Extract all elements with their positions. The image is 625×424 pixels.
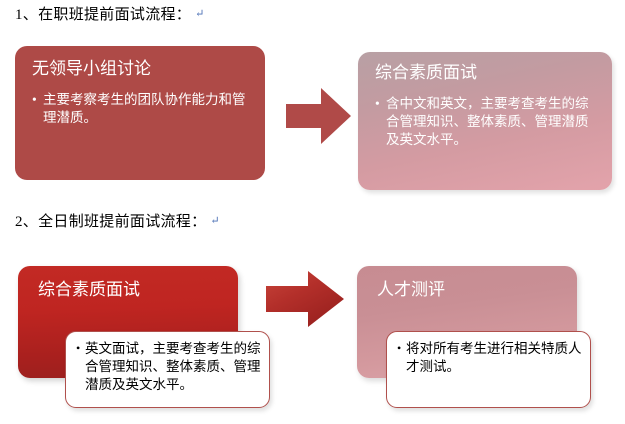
flow1-box2-title: 综合素质面试 [375, 64, 477, 83]
flow2-box3-callout-text: 英文面试，主要考查考生的综合管理知识、整体素质、管理潜质及英文水平。 [85, 340, 261, 395]
flow2-box4-title: 人才测评 [377, 281, 445, 300]
section-heading-1: 1、在职班提前面试流程：↵ [15, 8, 205, 23]
section-heading-1-text: 1、在职班提前面试流程： [15, 7, 191, 23]
section-heading-2: 2、全日制班提前面试流程：↵ [15, 215, 220, 230]
flow2-box3-callout-bullet: • 英文面试，主要考查考生的综合管理知识、整体素质、管理潜质及英文水平。 [76, 340, 261, 395]
flow1-box-leaderless-group-discussion[interactable]: 无领导小组讨论 • 主要考察考生的团队协作能力和管理潜质。 [15, 46, 265, 180]
bullet-dot-icon: • [32, 91, 37, 109]
paragraph-mark-icon: ↵ [195, 8, 205, 20]
flow1-box2-bullet-text: 含中文和英文，主要考查考生的综合管理知识、整体素质、管理潜质及英文水平。 [386, 95, 597, 148]
paragraph-mark-icon: ↵ [210, 215, 220, 227]
bullet-dot-icon: • [76, 340, 80, 356]
flow1-box1-bullet: • 主要考察考生的团队协作能力和管理潜质。 [32, 91, 250, 127]
flow2-box4-callout-bullet: • 将对所有考生进行相关特质人才测试。 [397, 340, 582, 376]
flow2-right-arrow-icon [266, 271, 346, 329]
flow1-right-arrow-icon [286, 88, 351, 144]
flow2-box4-callout[interactable]: • 将对所有考生进行相关特质人才测试。 [386, 331, 591, 408]
section-heading-2-text: 2、全日制班提前面试流程： [15, 214, 206, 230]
flow2-box4-callout-text: 将对所有考生进行相关特质人才测试。 [406, 340, 582, 376]
flow1-box1-title: 无领导小组讨论 [32, 60, 151, 79]
flow2-arrow-svg [266, 271, 346, 329]
flow2-box3-title: 综合素质面试 [38, 281, 140, 300]
flow1-arrow-svg [286, 88, 351, 144]
bullet-dot-icon: • [397, 340, 401, 356]
flow1-box-comprehensive-quality-interview[interactable]: 综合素质面试 • 含中文和英文，主要考查考生的综合管理知识、整体素质、管理潜质及… [358, 52, 612, 190]
bullet-dot-icon: • [375, 95, 380, 113]
flow2-box3-callout[interactable]: • 英文面试，主要考查考生的综合管理知识、整体素质、管理潜质及英文水平。 [65, 331, 270, 408]
flow1-box1-bullet-text: 主要考察考生的团队协作能力和管理潜质。 [43, 91, 250, 127]
flow1-box2-bullet: • 含中文和英文，主要考查考生的综合管理知识、整体素质、管理潜质及英文水平。 [375, 95, 597, 148]
